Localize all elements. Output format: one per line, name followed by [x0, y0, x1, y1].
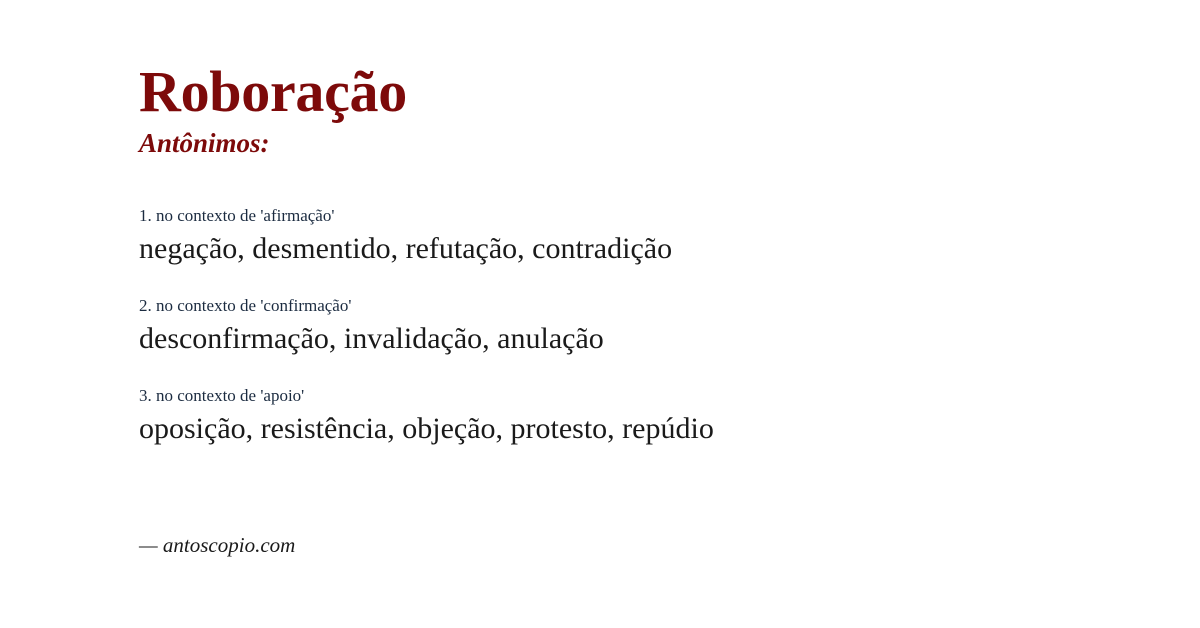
- section-label: Antônimos:: [139, 129, 1140, 159]
- card-header: Roboração Antônimos:: [139, 0, 1140, 159]
- page-title: Roboração: [139, 62, 1140, 123]
- card-footer: — antoscopio.com: [139, 533, 295, 558]
- sense-context-label: 2. no contexto de 'confirmação': [139, 295, 1140, 316]
- source-attribution: — antoscopio.com: [139, 533, 295, 558]
- sense-antonyms: negação, desmentido, refutação, contradi…: [139, 229, 1140, 268]
- sense-entry: 3. no contexto de 'apoio' oposição, resi…: [139, 385, 1140, 448]
- sense-context-label: 1. no contexto de 'afirmação': [139, 205, 1140, 226]
- antonyms-card: Roboração Antônimos: 1. no contexto de '…: [0, 0, 1200, 628]
- sense-antonyms: oposição, resistência, objeção, protesto…: [139, 409, 1140, 448]
- sense-entry: 2. no contexto de 'confirmação' desconfi…: [139, 295, 1140, 358]
- sense-entry: 1. no contexto de 'afirmação' negação, d…: [139, 205, 1140, 268]
- sense-context-label: 3. no contexto de 'apoio': [139, 385, 1140, 406]
- sense-antonyms: desconfirmação, invalidação, anulação: [139, 319, 1140, 358]
- sense-list: 1. no contexto de 'afirmação' negação, d…: [139, 205, 1140, 449]
